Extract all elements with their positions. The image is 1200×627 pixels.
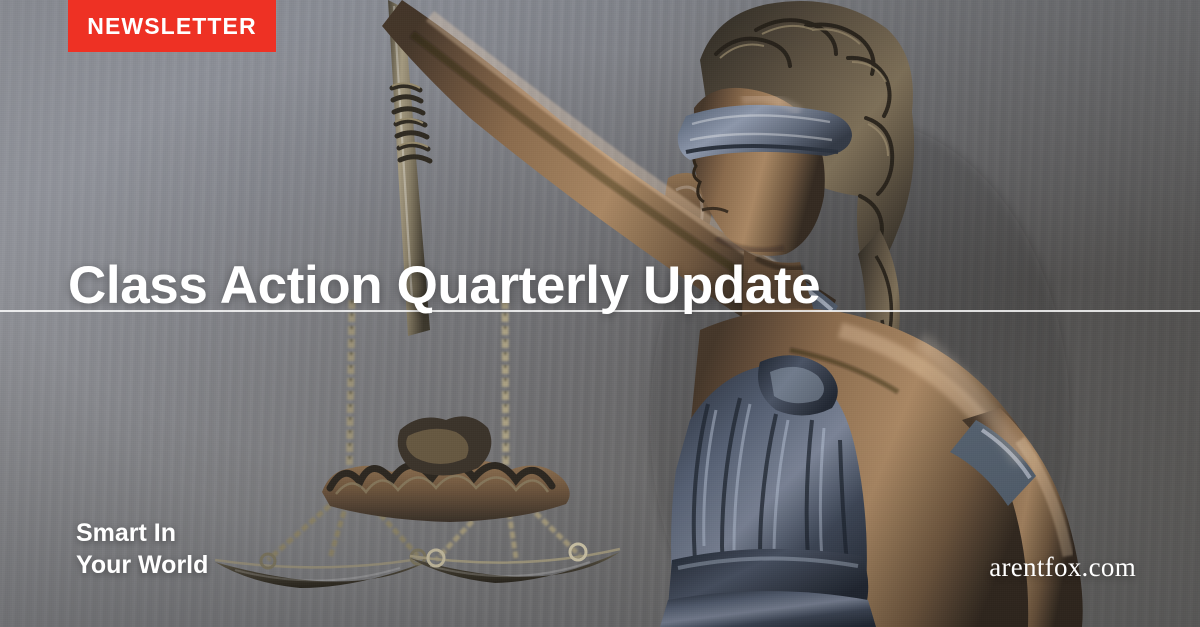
newsletter-badge-label: NEWSLETTER [87, 15, 256, 38]
tagline-line-2: Your World [76, 550, 208, 582]
newsletter-badge: NEWSLETTER [68, 0, 276, 52]
newsletter-banner: NEWSLETTER Class Action Quarterly Update… [0, 0, 1200, 627]
tagline: Smart In Your World [76, 518, 208, 581]
page-title: Class Action Quarterly Update [68, 258, 820, 313]
tagline-line-1: Smart In [76, 518, 208, 550]
website-url: arentfox.com [989, 552, 1136, 583]
